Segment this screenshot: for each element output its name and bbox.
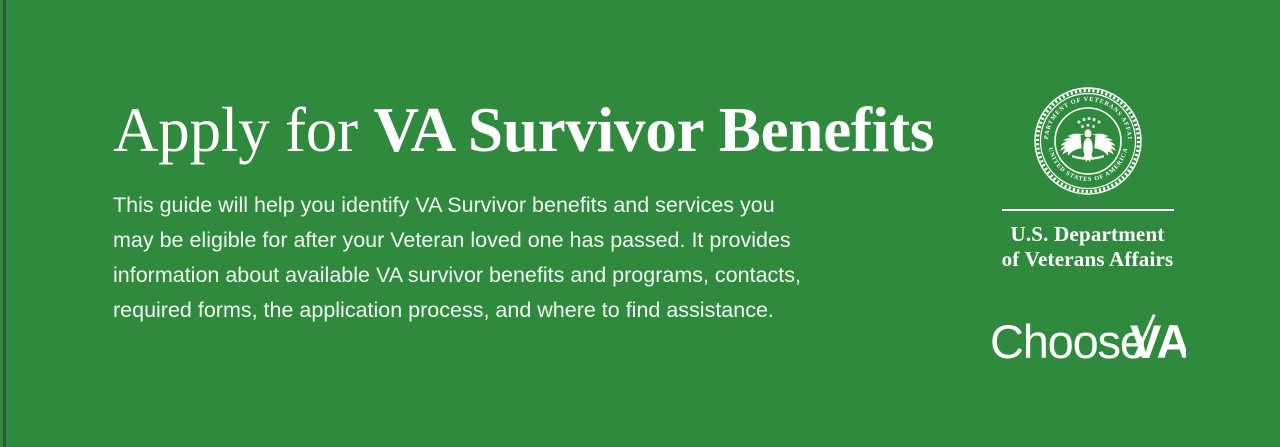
left-edge-stripe	[3, 0, 6, 447]
page-title-light-part: Apply for	[113, 95, 373, 165]
banner-description-line: information about available VA survivor …	[113, 258, 903, 293]
va-logo-lockup: DEPARTMENT OF VETERANS AFFAIRS UNITED ST…	[975, 85, 1200, 376]
banner-description-line: This guide will help you identify VA Sur…	[113, 188, 903, 223]
va-survivor-benefits-banner: Apply for VA Survivor Benefits This guid…	[0, 0, 1280, 447]
va-seal-icon: DEPARTMENT OF VETERANS AFFAIRS UNITED ST…	[1032, 85, 1144, 197]
banner-description-line: may be eligible for after your Veteran l…	[113, 223, 903, 258]
banner-description: This guide will help you identify VA Sur…	[113, 188, 903, 328]
agency-name-line-1: U.S. Department	[975, 222, 1200, 247]
choose-va-word-va: VA	[1130, 315, 1186, 368]
choose-va-word-choose: Choose	[990, 315, 1145, 368]
choose-va-logo: Choose VA	[975, 310, 1200, 376]
banner-text-block: Apply for VA Survivor Benefits This guid…	[113, 96, 913, 328]
agency-name-line-2: of Veterans Affairs	[975, 247, 1200, 272]
logo-divider-rule	[1002, 209, 1174, 211]
page-title-bold-part: VA Survivor Benefits	[373, 95, 934, 165]
page-title: Apply for VA Survivor Benefits	[113, 96, 913, 164]
agency-name: U.S. Department of Veterans Affairs	[975, 222, 1200, 272]
banner-description-line: required forms, the application process,…	[113, 293, 903, 328]
